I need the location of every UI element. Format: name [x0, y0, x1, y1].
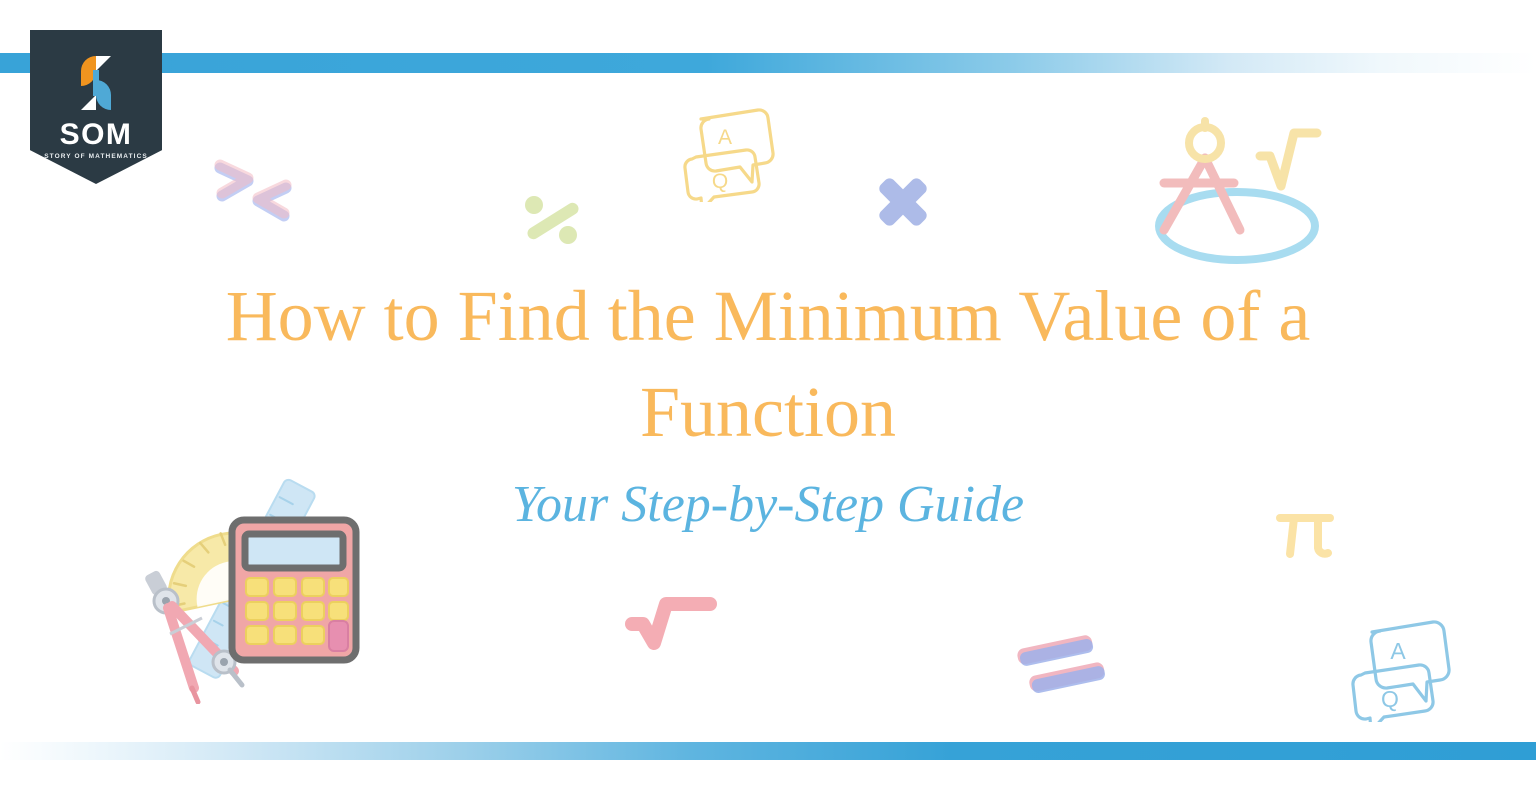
article-banner: A Q: [0, 0, 1536, 798]
page-title-line-1: How to Find the Minimum Value of a: [0, 268, 1536, 364]
equals-bars-icon: [1008, 626, 1112, 702]
svg-text:A: A: [1390, 638, 1406, 664]
top-accent-rule: [0, 53, 1536, 73]
page-title-line-2: Function: [0, 364, 1536, 460]
multiplication-x-icon: [862, 162, 944, 242]
som-logo-mark-icon: [68, 54, 124, 112]
division-slash-icon: [512, 182, 594, 258]
page-subtitle: Your Step-by-Step Guide: [0, 474, 1536, 536]
svg-text:A: A: [718, 126, 732, 149]
svg-text:Q: Q: [1381, 686, 1399, 712]
square-root-icon: [616, 586, 726, 660]
qa-speech-bubbles-icon: A Q: [678, 102, 792, 202]
bottom-accent-rule: [0, 742, 1536, 760]
som-tagline: STORY OF MATHEMATICS: [30, 153, 162, 160]
som-logo-badge[interactable]: SOM STORY OF MATHEMATICS: [30, 30, 162, 184]
greater-less-chevrons-icon: [208, 148, 300, 234]
compass-divider-icon: [1142, 108, 1352, 276]
svg-text:Q: Q: [712, 170, 728, 193]
headline-block: How to Find the Minimum Value of a Funct…: [0, 268, 1536, 536]
som-wordmark: SOM: [30, 120, 162, 150]
qa-speech-bubbles-icon: A Q: [1344, 612, 1468, 722]
